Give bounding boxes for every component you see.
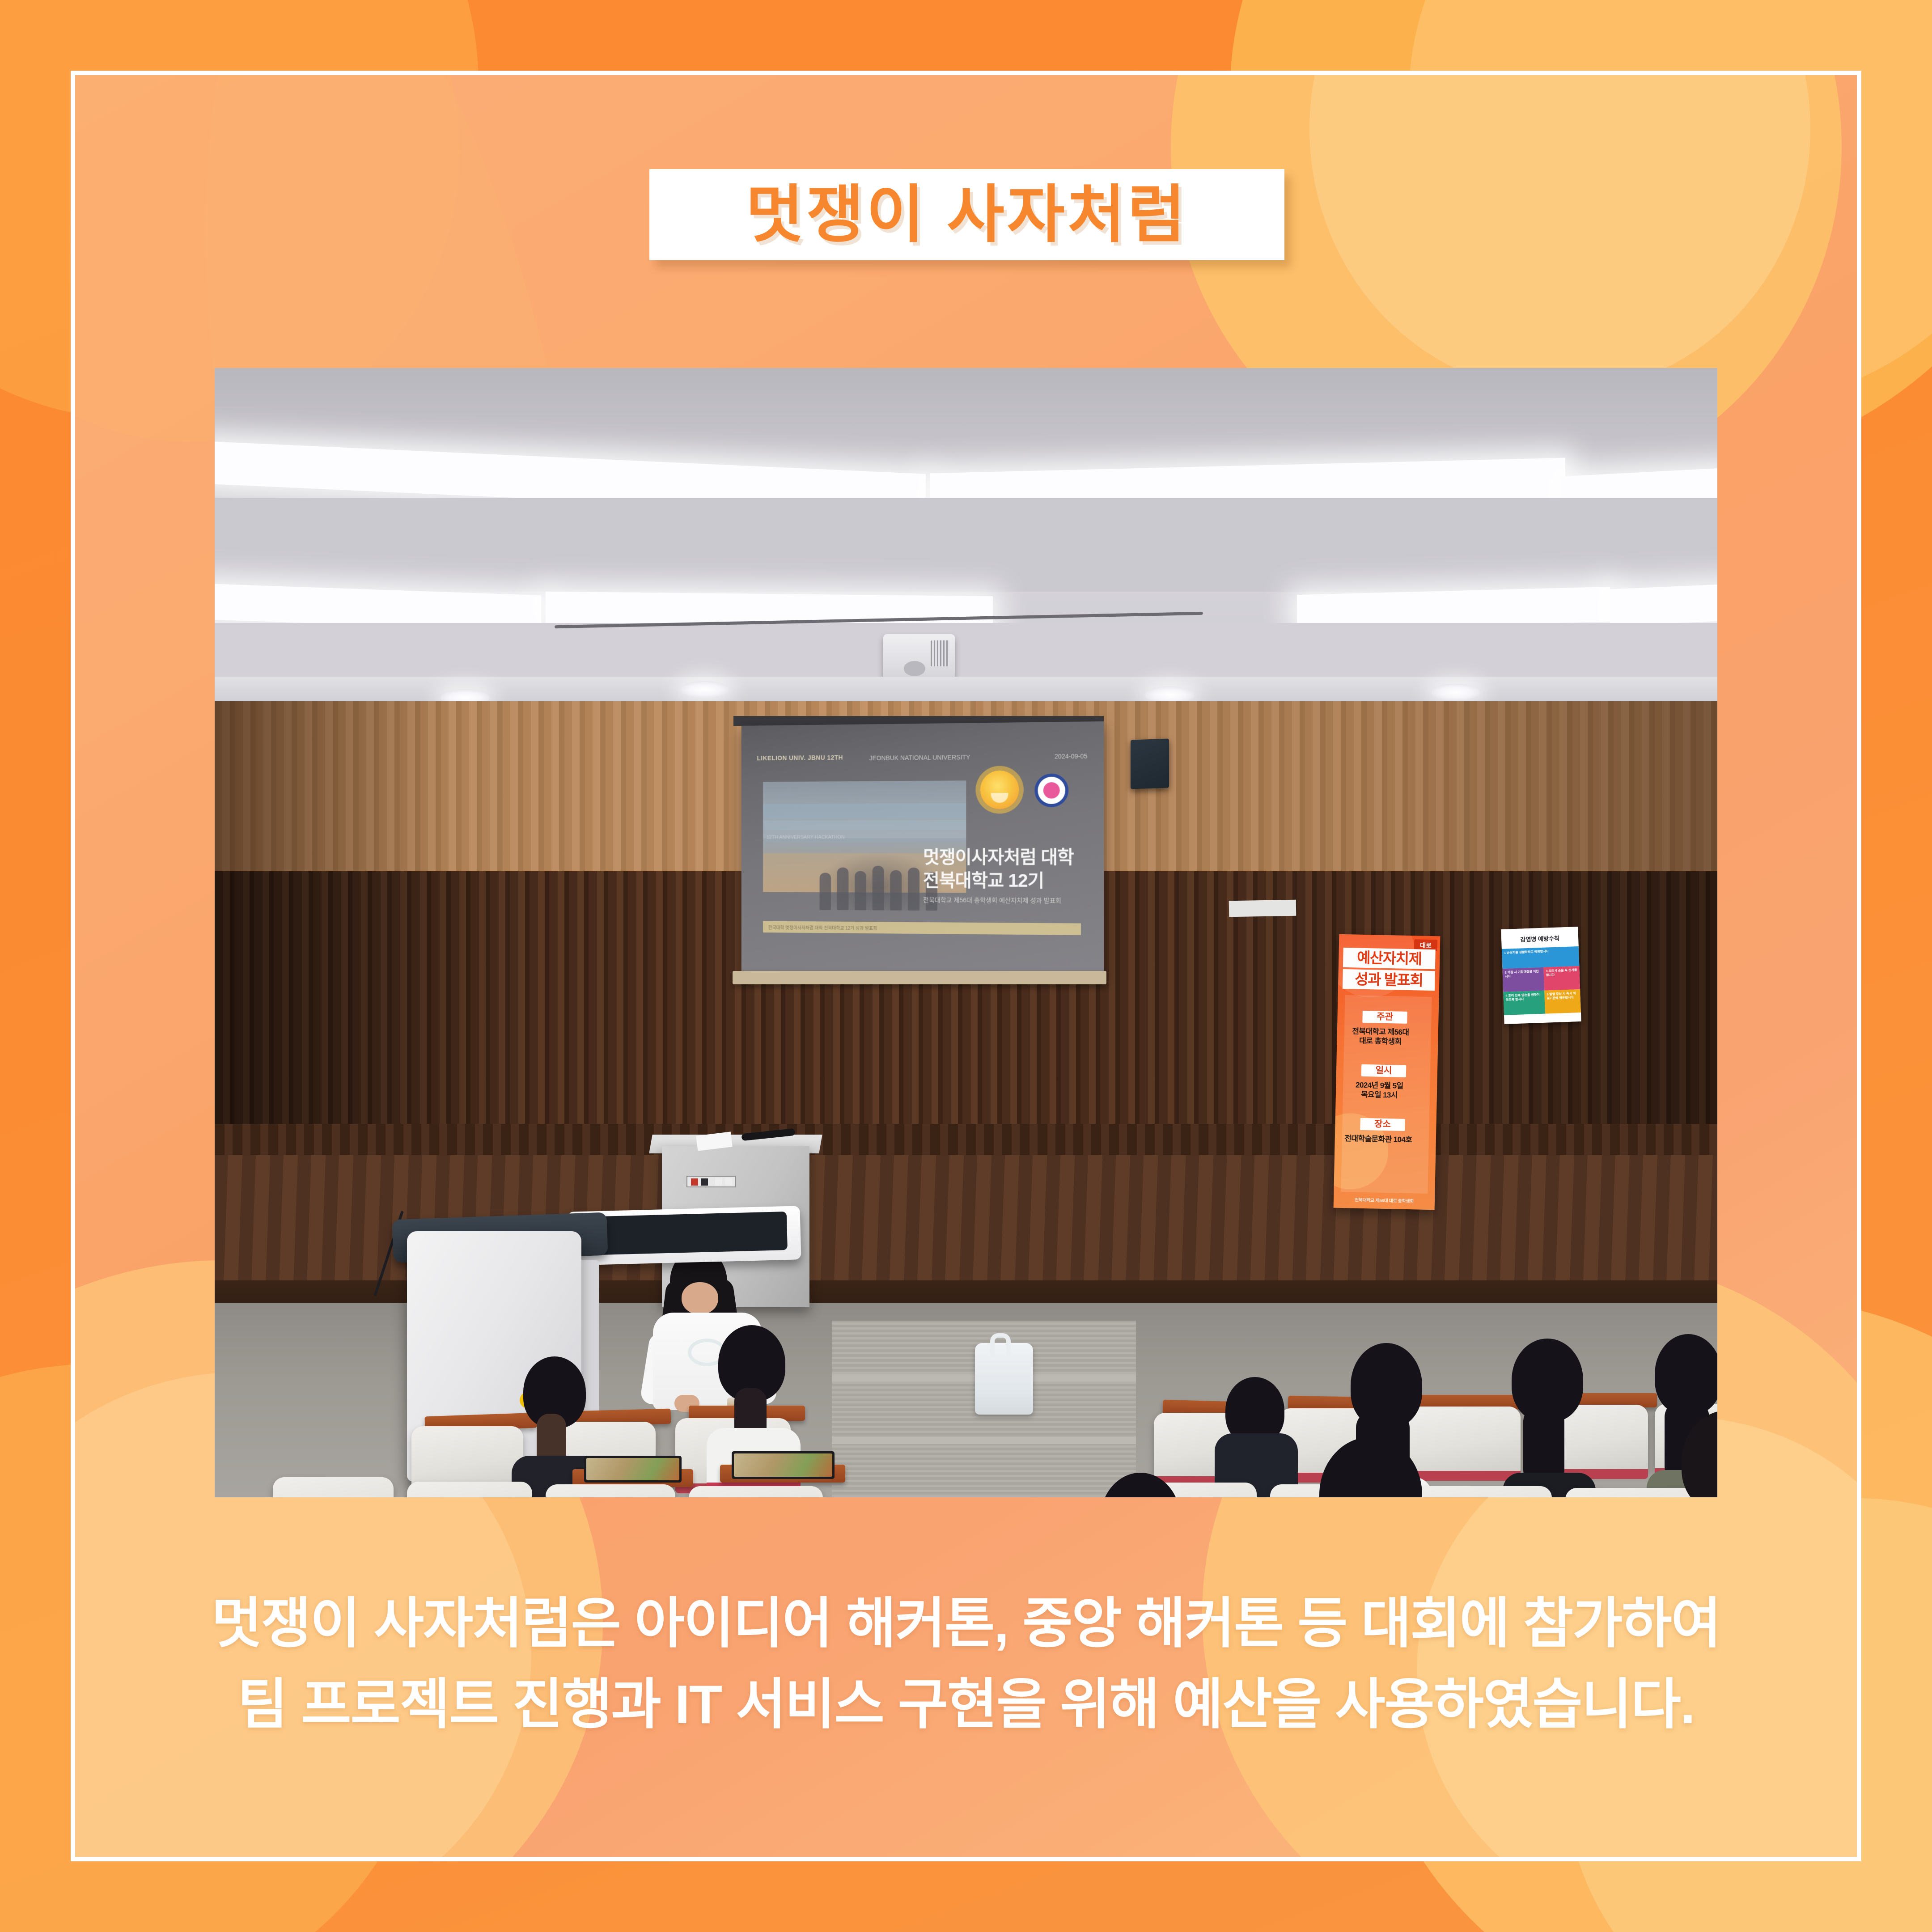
- banner-footer: 전북대학교 제56대 대로 총학생회: [1340, 1196, 1428, 1204]
- caption-text: 멋쟁이 사자처럼은 아이디어 해커톤, 중앙 해커톤 등 대회에 참가하여 팀 …: [107, 1583, 1825, 1745]
- banner-value-datetime: 2024년 9월 5일목요일 13시: [1339, 1080, 1420, 1101]
- banner-label-datetime: 일시: [1361, 1064, 1407, 1077]
- projector-lens: [904, 661, 925, 676]
- presentation-slide: LIKELION UNIV. JBNU 12TH JEONBUK NATIONA…: [757, 751, 1088, 951]
- bento-box: [732, 1451, 835, 1479]
- auditorium-seat: [689, 1486, 823, 1497]
- auditorium-seat: [1404, 1407, 1521, 1474]
- bento-box: [584, 1456, 682, 1483]
- auditorium-seat: [1565, 1488, 1699, 1497]
- caption-line-2: 팀 프로젝트 진행과 IT 서비스 구현을 위해 예산을 사용하였습니다.: [107, 1664, 1825, 1745]
- poster-item: 1 손씻기를 생활화하고 예방합시다: [1502, 946, 1579, 969]
- poster-header: 감염병 예방수칙: [1501, 927, 1578, 949]
- inner-decor-2: [1309, 71, 1810, 393]
- wall-plate: [1229, 900, 1296, 917]
- slide-hero-caption-1: 12TH ANNIVERSARY HACKATHON: [767, 834, 845, 841]
- auditorium-seat: [1418, 1486, 1552, 1497]
- poster-title: 감염병 예방수칙: [1501, 933, 1579, 944]
- presenter-face: [682, 1282, 718, 1314]
- podium-monitor: [581, 1212, 788, 1255]
- banner-label-venue: 장소: [1360, 1118, 1405, 1131]
- slide-header-right: 2024-09-05: [1055, 753, 1088, 760]
- poster-item: 2 기침 시 기침예절을 지킵시다: [1502, 967, 1544, 992]
- lion-mascot-icon: [980, 770, 1019, 809]
- ceiling-band: [215, 498, 1717, 592]
- card-news-slide: 멋쟁이 사자처럼: [0, 0, 1932, 1932]
- ceiling-downlight: [680, 681, 729, 698]
- banner-title-line-1: 예산자치제: [1343, 948, 1436, 969]
- slide-header-center: JEONBUK NATIONAL UNIVERSITY: [869, 754, 970, 762]
- title-banner: 멋쟁이 사자처럼: [649, 169, 1284, 260]
- screen-tray: [733, 971, 1106, 984]
- cabinet-switch-panel[interactable]: [686, 1176, 736, 1187]
- slide-image-band: [763, 803, 966, 819]
- wall-health-poster: 감염병 예방수칙 1 손씻기를 생활화하고 예방합시다 2 기침 시 기침예절을…: [1501, 927, 1581, 1024]
- event-roll-banner: 대로 예산자치제 성과 발표회 주관 전북대학교 제56대대로 총학생회 일시 …: [1334, 934, 1441, 1210]
- event-photo: LIKELION UNIV. JBNU 12TH JEONBUK NATIONA…: [215, 368, 1717, 1497]
- slide-footer-bar: 한국대학 멋쟁이사자처럼 대학 전북대학교 12기 성과 발표회: [763, 921, 1081, 935]
- slide-image-band: [763, 820, 966, 830]
- plastic-bag: [975, 1343, 1033, 1415]
- projector-vent: [931, 640, 949, 666]
- caption-line-1: 멋쟁이 사자처럼은 아이디어 해커톤, 중앙 해커톤 등 대회에 참가하여: [107, 1583, 1825, 1664]
- slide-header: LIKELION UNIV. JBNU 12TH JEONBUK NATIONA…: [757, 751, 1088, 766]
- ceiling-downlight: [1431, 684, 1480, 701]
- slide-title-line-1: 멋쟁이사자처럼 대학: [923, 843, 1074, 869]
- banner-title-line-2: 성과 발표회: [1343, 969, 1435, 991]
- auditorium-seat: [546, 1484, 675, 1497]
- banner-value-venue: 전대학술문화관 104호: [1338, 1134, 1419, 1145]
- poster-item: 3 조리시 손을 꼭 씻기를 합시다: [1543, 966, 1580, 991]
- poster-item: 4 조리 전후 양손을 깨끗이 씻도록 합시다: [1503, 991, 1545, 1015]
- poster-item: 5 발열 증상 시 즉시 의료기관에 방문합시다: [1544, 989, 1581, 1014]
- slide-footer-note: 한국대학 멋쟁이사자처럼 대학 전북대학교 12기 성과 발표회: [768, 924, 877, 931]
- page-title: 멋쟁이 사자처럼: [746, 183, 1188, 246]
- projection-screen: LIKELION UNIV. JBNU 12TH JEONBUK NATIONA…: [741, 721, 1104, 976]
- auditorium-seat: [273, 1477, 394, 1497]
- university-logo-icon: [1034, 774, 1068, 807]
- slide-subtitle: 전북대학교 제56대 총학생회 예산자치제 성과 발표회: [923, 895, 1061, 905]
- slide-header-left: LIKELION UNIV. JBNU 12TH: [757, 754, 843, 762]
- wall-speaker-right: [1131, 738, 1169, 789]
- ceiling: [215, 368, 1717, 681]
- banner-label-host: 주관: [1362, 1011, 1407, 1024]
- aisle-step: [832, 1437, 1136, 1444]
- banner-value-host: 전북대학교 제56대대로 총학생회: [1339, 1026, 1421, 1047]
- slide-title-line-2: 전북대학교 12기: [923, 866, 1044, 892]
- auditorium-seat: [407, 1482, 532, 1497]
- ceiling-light-strip: [1610, 583, 1717, 626]
